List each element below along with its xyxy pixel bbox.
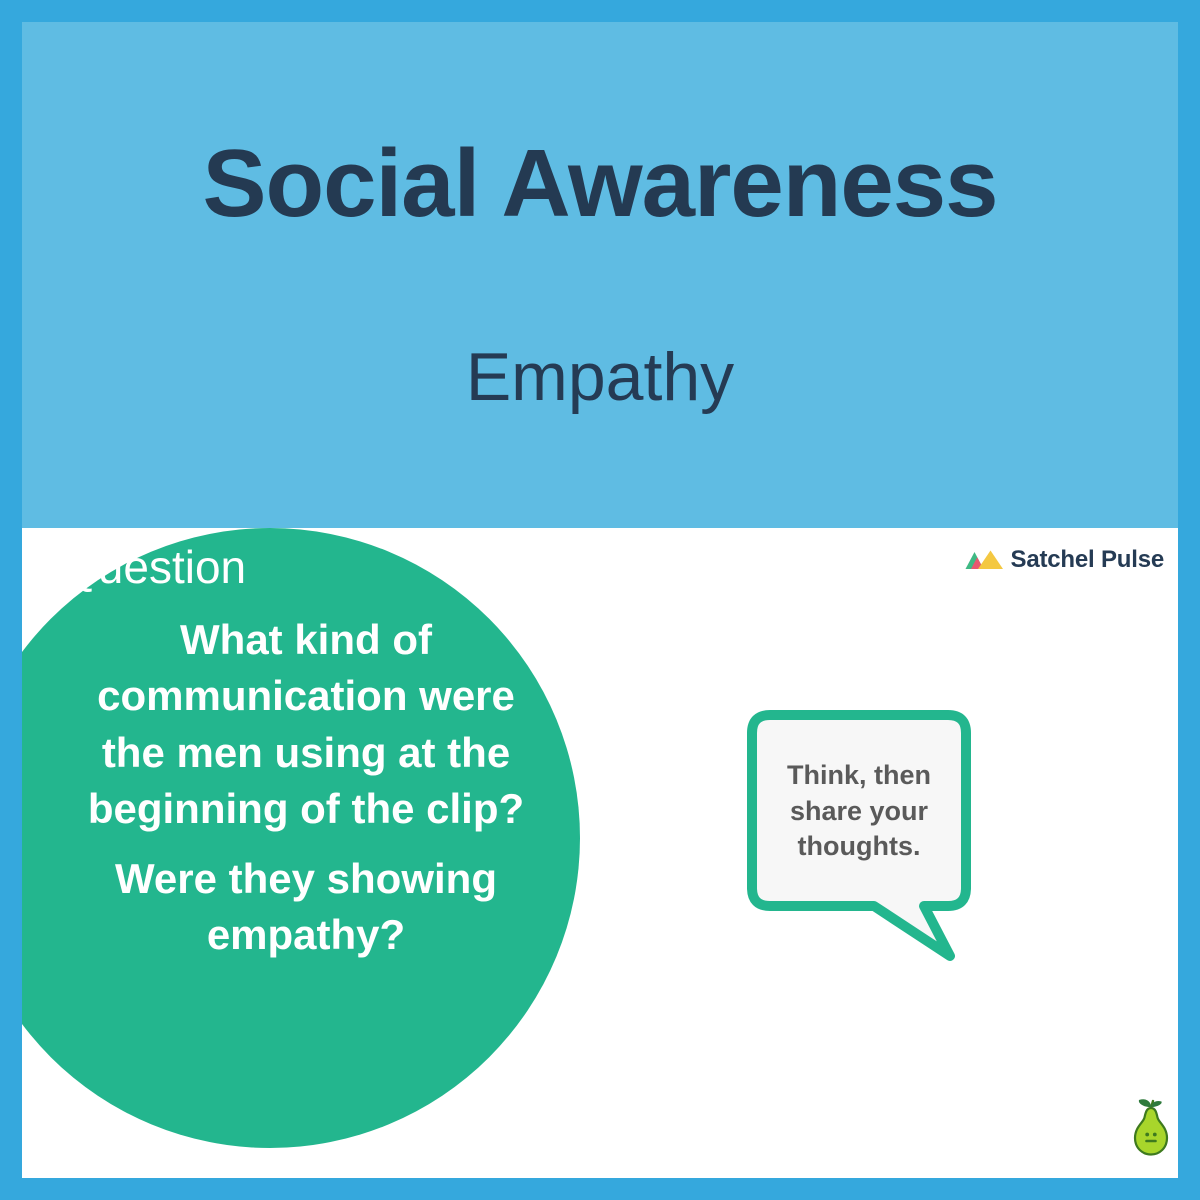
question-line: Were they showing [36,851,576,907]
bubble-line: thoughts. [756,829,962,865]
speech-bubble: Think, then share your thoughts. [734,710,984,972]
question-text: What kind of communication were the men … [36,612,576,964]
pear-deck-logo [1126,1096,1176,1158]
content-panel: Question What kind of communication were… [22,528,1178,1178]
satchel-pulse-wordmark: Satchel Pulse [1011,548,1164,572]
question-line: communication were [36,668,576,724]
question-line: empathy? [36,907,576,963]
page-subtitle: Empathy [22,342,1178,413]
question-label: Question [62,544,246,590]
slide-canvas: Social Awareness Empathy Question What k… [0,0,1200,1200]
bubble-line: Think, then [756,758,962,794]
page-title: Social Awareness [22,134,1178,235]
question-line: What kind of [36,612,576,668]
satchel-pulse-logo: Satchel Pulse [964,548,1164,572]
mountain-peaks-icon [964,549,1004,571]
bubble-line: share your [756,794,962,830]
title-panel: Social Awareness Empathy [22,22,1178,528]
question-line: the men using at the [36,725,576,781]
pear-icon [1126,1096,1176,1158]
question-line: beginning of the clip? [36,781,576,837]
speech-bubble-text: Think, then share your thoughts. [756,758,962,865]
